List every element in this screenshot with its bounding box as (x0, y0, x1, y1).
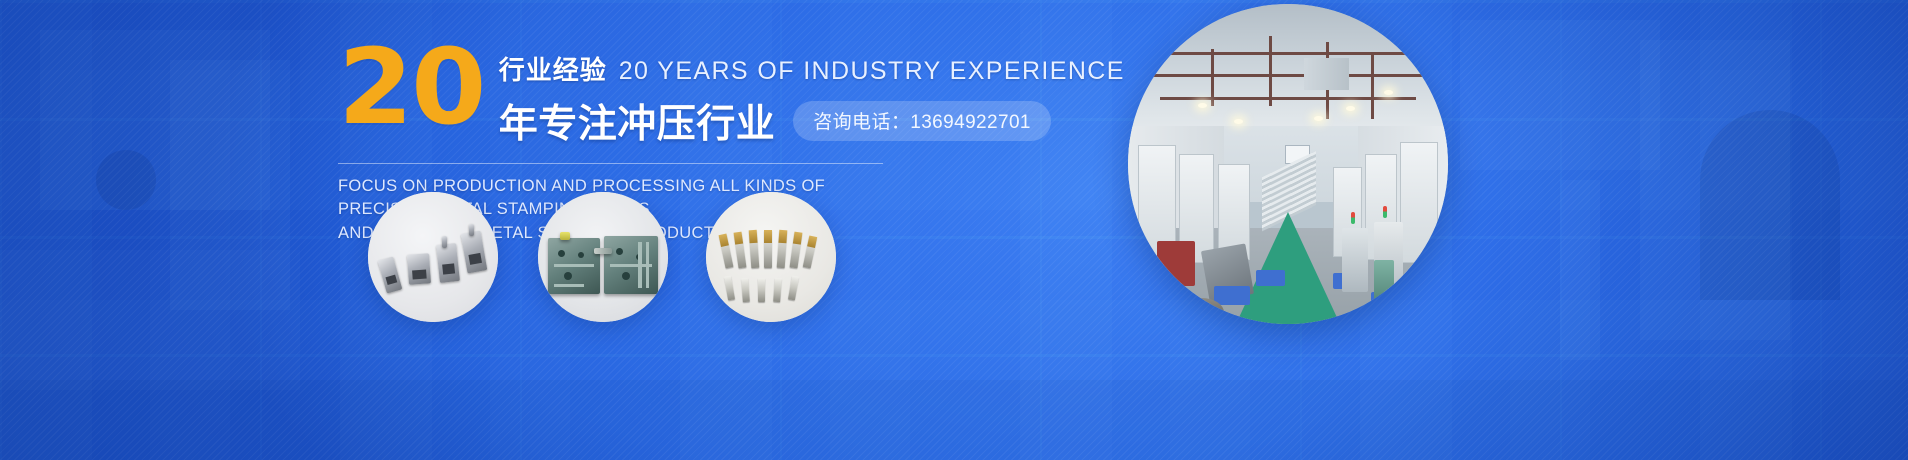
photo-green-aisle (1236, 212, 1340, 324)
photo-ceiling-beam (1211, 49, 1214, 107)
photo-cable-spool (1179, 298, 1224, 324)
photo-signal-tower (1351, 212, 1355, 224)
product-photo-mold (538, 192, 668, 322)
headline-row: 20 行业经验 20 YEARS OF INDUSTRY EXPERIENCE … (338, 38, 1098, 149)
years-number: 20 (338, 42, 484, 134)
photo-ceiling-beam (1141, 74, 1435, 77)
factory-photo-circle[interactable] (1128, 4, 1448, 324)
photo-machine-cabinet (1400, 142, 1438, 264)
product-circle-terminals[interactable] (706, 192, 836, 322)
tagline-row: 行业经验 20 YEARS OF INDUSTRY EXPERIENCE (499, 50, 1125, 87)
photo-workstation (1342, 228, 1368, 292)
headline-text-group: 行业经验 20 YEARS OF INDUSTRY EXPERIENCE 年专注… (499, 38, 1125, 149)
photo-ceiling-beam (1371, 55, 1374, 119)
promo-banner: 20 行业经验 20 YEARS OF INDUSTRY EXPERIENCE … (0, 0, 1908, 460)
divider (338, 163, 883, 164)
photo-green-machine (1374, 260, 1393, 311)
cn-headline: 年专注冲压行业 (499, 93, 776, 149)
product-circle-mold[interactable] (538, 192, 668, 322)
main-headline-row: 年专注冲压行业 咨询电话：13694922701 (499, 93, 1125, 149)
phone-badge[interactable]: 咨询电话：13694922701 (793, 101, 1051, 141)
photo-ceiling-beam (1154, 52, 1423, 55)
photo-signal-tower (1383, 206, 1387, 218)
product-photo-connectors (368, 192, 498, 322)
cn-tagline: 行业经验 (499, 50, 607, 87)
photo-duct (1304, 58, 1349, 90)
photo-ceiling-lamp (1314, 116, 1323, 121)
photo-ceiling-lamp (1234, 119, 1243, 124)
photo-red-machine (1157, 241, 1195, 286)
product-circle-connectors[interactable] (368, 192, 498, 322)
photo-blue-pallet (1256, 270, 1285, 286)
photo-ceiling-beam (1160, 97, 1416, 100)
photo-blue-pallet (1214, 286, 1249, 305)
product-photo-terminals (706, 192, 836, 322)
photo-ceiling-beam (1269, 36, 1272, 106)
en-tagline: 20 YEARS OF INDUSTRY EXPERIENCE (619, 57, 1125, 86)
